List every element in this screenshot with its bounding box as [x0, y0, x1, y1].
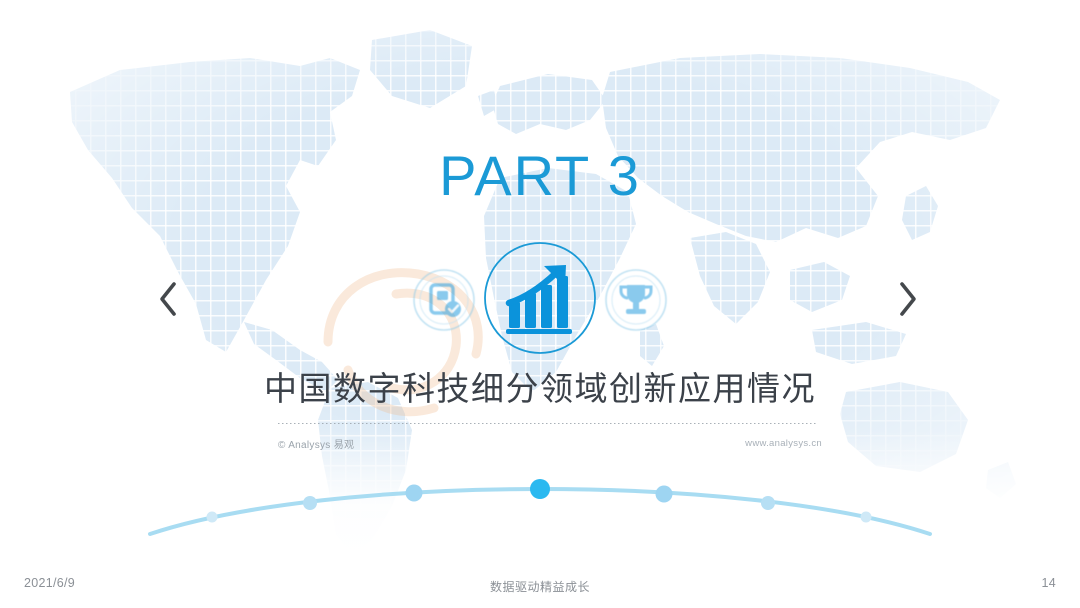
- progress-dot-active[interactable]: [530, 479, 550, 499]
- website-url: www.analysys.cn: [745, 438, 822, 449]
- trophy-icon: [600, 264, 672, 336]
- progress-dot[interactable]: [406, 485, 423, 502]
- title-divider: [278, 423, 818, 424]
- part-label: PART 3: [0, 148, 1080, 204]
- chevron-left-icon: [155, 279, 181, 319]
- progress-dot[interactable]: [656, 486, 673, 503]
- chevron-right-icon: [895, 279, 921, 319]
- progress-arc-line: [0, 462, 1080, 542]
- footer-page-number: 14: [1041, 576, 1056, 590]
- footer-tagline: 数据驱动精益成长: [0, 578, 1080, 595]
- growth-bar-chart-icon: [482, 240, 598, 356]
- progress-arc: [0, 462, 1080, 542]
- progress-dot[interactable]: [207, 512, 218, 523]
- page-title: 中国数字科技细分领域创新应用情况: [0, 369, 1080, 409]
- icon-cluster: [408, 240, 672, 360]
- prev-slide-button[interactable]: [146, 270, 190, 328]
- progress-dot[interactable]: [761, 496, 775, 510]
- document-check-icon: [408, 264, 480, 336]
- copyright-credit: © Analysys 易观: [278, 436, 354, 451]
- next-slide-button[interactable]: [886, 270, 930, 328]
- progress-dot[interactable]: [861, 512, 872, 523]
- slide-root: PART 3: [0, 0, 1080, 608]
- progress-dot[interactable]: [303, 496, 317, 510]
